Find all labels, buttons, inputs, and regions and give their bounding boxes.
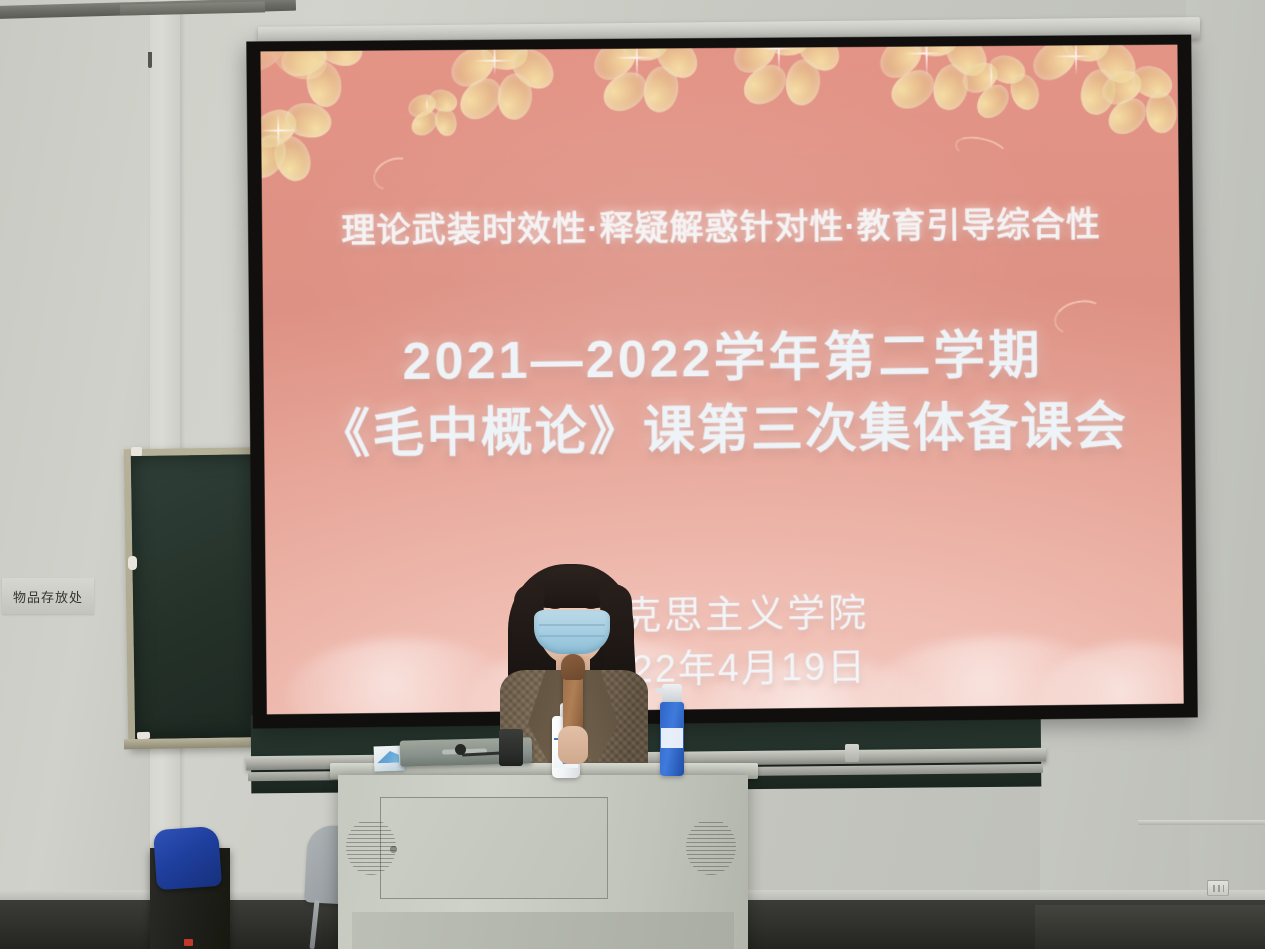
speaker-grille-right bbox=[686, 819, 736, 875]
chalk-piece bbox=[128, 556, 137, 570]
slide-title-line-2: 《毛中概论》课第三次集体备课会 bbox=[264, 384, 1182, 468]
power-outlet[interactable] bbox=[1207, 880, 1229, 896]
chalk-piece bbox=[137, 732, 150, 739]
podium-cabinet-door[interactable] bbox=[380, 797, 608, 899]
classroom-scene: 物品存放处 bbox=[0, 0, 1265, 949]
slide-subtitle: 理论武装时效性·释疑解惑针对性·教育引导综合性 bbox=[262, 196, 1179, 253]
hand bbox=[558, 726, 588, 764]
speaker-grille-left bbox=[346, 819, 396, 875]
microphone-base bbox=[499, 729, 523, 766]
podium-base bbox=[352, 912, 734, 949]
microphone-joint bbox=[455, 744, 466, 755]
wall-sign-storage: 物品存放处 bbox=[2, 578, 94, 614]
projected-slide: 理论武装时效性·释疑解惑针对性·教育引导综合性 2021—2022学年第二学期 … bbox=[260, 45, 1183, 715]
chalk-piece bbox=[131, 447, 142, 456]
rail-hook-icon bbox=[148, 52, 152, 68]
swirl-ornament bbox=[368, 151, 419, 196]
baseboard-right bbox=[1035, 905, 1265, 949]
swirl-ornament bbox=[952, 132, 1010, 168]
power-led-icon bbox=[184, 939, 193, 946]
wall-trim bbox=[1138, 820, 1265, 825]
projector-screen-frame: 理论武装时效性·释疑解惑针对性·教育引导综合性 2021—2022学年第二学期 … bbox=[246, 35, 1197, 729]
blue-cloth bbox=[153, 826, 222, 890]
slide-title-line-1: 2021—2022学年第二学期 bbox=[263, 312, 1181, 396]
wall-fixture bbox=[845, 744, 859, 762]
face-mask bbox=[534, 610, 610, 654]
right-wall-panel bbox=[1186, 0, 1265, 949]
disinfectant-spray-bottle bbox=[660, 702, 684, 776]
spray-label bbox=[661, 728, 683, 748]
slide-date: 2022年4月19日 bbox=[266, 632, 1183, 698]
spray-nozzle bbox=[662, 684, 682, 704]
